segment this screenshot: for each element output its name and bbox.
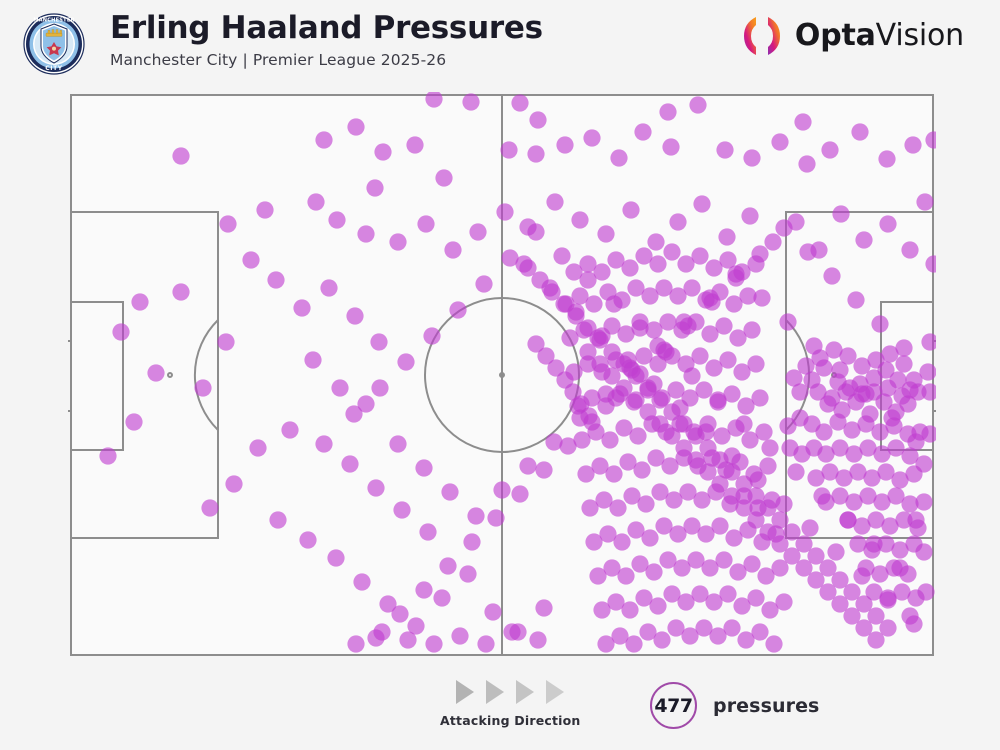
left-goal xyxy=(68,341,71,411)
pressure-dot xyxy=(747,255,764,272)
pressure-dot xyxy=(406,136,423,153)
pressure-dot xyxy=(715,551,732,568)
pressure-dot xyxy=(315,435,332,452)
pressure-dot xyxy=(771,559,788,576)
pressure-dot xyxy=(699,415,716,432)
pressure-dot xyxy=(459,565,476,582)
pressure-dot xyxy=(691,247,708,264)
pressure-dot xyxy=(389,233,406,250)
pressure-dot xyxy=(477,635,494,652)
pressure-dot xyxy=(659,551,676,568)
pressure-dot xyxy=(267,271,284,288)
pressure-dot xyxy=(907,511,924,528)
opta-logo-icon xyxy=(740,14,784,58)
pressure-dot xyxy=(707,483,724,500)
manchester-city-crest-icon: MANCHESTER CITY xyxy=(22,12,86,76)
pressure-dot xyxy=(615,419,632,436)
pressure-dot xyxy=(916,193,933,210)
pressure-dot xyxy=(895,355,912,372)
pressure-dot xyxy=(172,283,189,300)
pressure-dot xyxy=(307,193,324,210)
pressure-dot xyxy=(315,131,332,148)
pressure-dot xyxy=(715,317,732,334)
opta-name-bold: Opta xyxy=(795,18,876,53)
pressure-dot xyxy=(125,413,142,430)
pressure-dot xyxy=(320,279,337,296)
pressure-dot xyxy=(467,507,484,524)
pressure-dot xyxy=(719,251,736,268)
pressure-dot xyxy=(599,283,616,300)
pressure-count-label: pressures xyxy=(713,695,819,717)
crest-bottom-text: CITY xyxy=(45,65,63,72)
opta-name-light: Vision xyxy=(876,18,964,53)
pressure-dot xyxy=(589,567,606,584)
pressure-dot xyxy=(821,141,838,158)
pressure-dot xyxy=(655,517,672,534)
pressure-dot xyxy=(718,228,735,245)
pressure-dot xyxy=(695,381,712,398)
pressure-dot xyxy=(597,635,614,652)
pressure-dot xyxy=(415,459,432,476)
pressure-dot xyxy=(462,93,479,110)
pressure-dot xyxy=(417,215,434,232)
pressure-dot xyxy=(663,243,680,260)
pressure-dot xyxy=(415,581,432,598)
pressure-dot xyxy=(327,549,344,566)
pressure-dot xyxy=(827,543,844,560)
pressure-dot xyxy=(878,150,895,167)
pressure-dot xyxy=(663,585,680,602)
pressure-dot xyxy=(839,511,856,528)
pressure-dot xyxy=(225,475,242,492)
pressure-dot xyxy=(366,179,383,196)
pressure-dot xyxy=(519,457,536,474)
pressure-dot xyxy=(741,207,758,224)
pressure-dot xyxy=(623,487,640,504)
pressure-dot xyxy=(557,295,574,312)
pressure-dot xyxy=(639,381,656,398)
pressure-dot xyxy=(759,457,776,474)
pressure-dot xyxy=(425,635,442,652)
pressure-dot xyxy=(331,379,348,396)
pressure-dot xyxy=(662,138,679,155)
pressure-dot xyxy=(217,333,234,350)
pressure-dot xyxy=(593,601,610,618)
pressure-count-badge: 477 xyxy=(650,682,697,729)
pressure-dot xyxy=(893,387,910,404)
pressure-dot xyxy=(304,351,321,368)
pressure-dot xyxy=(293,299,310,316)
pressure-dot xyxy=(907,589,924,606)
pressure-dot xyxy=(585,533,602,550)
pressure-dot xyxy=(667,619,684,636)
pressure-dot xyxy=(801,519,818,536)
triangle-right-icon xyxy=(456,680,474,704)
pressure-dot xyxy=(131,293,148,310)
pressure-dot xyxy=(798,155,815,172)
pressure-dot xyxy=(764,233,781,250)
pressure-dot xyxy=(683,279,700,296)
pressure-dot xyxy=(201,499,218,516)
pressure-dot xyxy=(716,141,733,158)
pressure-dot xyxy=(172,147,189,164)
pressure-dot xyxy=(484,603,501,620)
pressure-dot xyxy=(847,291,864,308)
pressure-dot xyxy=(687,313,704,330)
pressure-dot xyxy=(373,623,390,640)
pressure-dot xyxy=(496,203,513,220)
page-title: Erling Haaland Pressures xyxy=(110,10,543,46)
pressure-dot xyxy=(607,251,624,268)
pressure-dot xyxy=(719,351,736,368)
pressure-dot xyxy=(631,555,648,572)
pressure-dot xyxy=(423,327,440,344)
pressure-dot xyxy=(565,263,582,280)
pressure-dot xyxy=(711,517,728,534)
pressure-dot xyxy=(597,225,614,242)
pressure-dot xyxy=(419,523,436,540)
pressure-dot xyxy=(529,111,546,128)
pressure-dot xyxy=(569,397,586,414)
pressure-dot xyxy=(901,607,918,624)
pressure-dot xyxy=(500,141,517,158)
pressure-dot xyxy=(631,313,648,330)
pressure-dot xyxy=(519,259,536,276)
pressure-dot xyxy=(341,455,358,472)
pressure-dot xyxy=(501,249,518,266)
pressure-dot xyxy=(487,509,504,526)
pressure-dot xyxy=(711,283,728,300)
pressure-dot xyxy=(328,211,345,228)
pressure-dot xyxy=(765,635,782,652)
triangle-right-icon xyxy=(516,680,534,704)
pressure-dot xyxy=(441,483,458,500)
pressure-dot xyxy=(639,623,656,640)
triangle-right-icon xyxy=(546,680,564,704)
pressure-dot xyxy=(817,493,834,510)
pressure-dot xyxy=(743,149,760,166)
pressure-dot xyxy=(619,453,636,470)
pressure-dot xyxy=(739,521,756,538)
pressure-dot xyxy=(799,243,816,260)
pressure-dot xyxy=(194,379,211,396)
pressure-dot xyxy=(659,103,676,120)
pressure-dot xyxy=(371,379,388,396)
pressure-dot xyxy=(767,525,784,542)
pressure-dot xyxy=(357,225,374,242)
pressure-dot xyxy=(751,623,768,640)
pressure-dot xyxy=(691,347,708,364)
pressure-dot xyxy=(529,631,546,648)
pressure-dot xyxy=(731,453,748,470)
pressure-dot xyxy=(634,123,651,140)
pressure-dot xyxy=(374,143,391,160)
pressure-dot xyxy=(693,195,710,212)
pressure-dot xyxy=(643,415,660,432)
pressure-dot xyxy=(904,136,921,153)
pressure-dot xyxy=(647,233,664,250)
pressure-dot xyxy=(779,313,796,330)
pressure-dot xyxy=(469,223,486,240)
pressure-dot xyxy=(651,483,668,500)
pressure-dot xyxy=(269,511,286,528)
pressure-dot xyxy=(493,481,510,498)
pressure-dot xyxy=(635,347,652,364)
pressure-dot xyxy=(581,499,598,516)
pressure-dot xyxy=(779,417,796,434)
pressure-dot xyxy=(573,431,590,448)
pressure-count-legend: 477 pressures xyxy=(650,682,819,729)
pressure-count-value: 477 xyxy=(654,695,692,717)
pressure-dot xyxy=(703,449,720,466)
pressure-dot xyxy=(353,573,370,590)
chart-legend: Attacking Direction 477 pressures xyxy=(0,668,1000,750)
pressure-dot xyxy=(475,275,492,292)
pressure-dot xyxy=(399,631,416,648)
pressure-dot xyxy=(781,439,798,456)
pressure-dot xyxy=(899,565,916,582)
pressure-dot xyxy=(345,405,362,422)
pressure-dot xyxy=(871,315,888,332)
pressure-dot xyxy=(915,455,932,472)
pressure-dot xyxy=(635,589,652,606)
pressure-dot xyxy=(347,635,364,652)
pressure-dot xyxy=(603,317,620,334)
pressure-dot xyxy=(857,559,874,576)
page-header: MANCHESTER CITY Erling Haaland Pressures… xyxy=(0,0,1000,88)
pressure-dot xyxy=(435,169,452,186)
pressure-dot xyxy=(915,493,932,510)
pressure-dot xyxy=(743,555,760,572)
pressure-dot xyxy=(739,287,756,304)
pressure-dot xyxy=(647,449,664,466)
pressure-dot xyxy=(787,463,804,480)
pressure-dot xyxy=(915,543,932,560)
pressure-dot xyxy=(535,599,552,616)
pressure-dot xyxy=(449,301,466,318)
pressure-dot xyxy=(794,113,811,130)
pressure-dot xyxy=(511,94,528,111)
pressure-dot xyxy=(463,533,480,550)
pressure-dot xyxy=(565,363,582,380)
pressure-dot xyxy=(611,385,628,402)
pressure-dot xyxy=(727,419,744,436)
pressure-dot xyxy=(397,353,414,370)
pressure-dot xyxy=(256,201,273,218)
pressure-dot xyxy=(610,149,627,166)
pressure-dot xyxy=(607,351,624,368)
pressure-dot xyxy=(747,589,764,606)
pressure-dot xyxy=(511,485,528,502)
pressure-dot xyxy=(242,251,259,268)
pressure-map-page: MANCHESTER CITY Erling Haaland Pressures… xyxy=(0,0,1000,750)
pressure-dot xyxy=(571,211,588,228)
pressure-dot xyxy=(346,307,363,324)
pressure-dot xyxy=(751,389,768,406)
pressure-dot xyxy=(747,355,764,372)
pressure-dot xyxy=(249,439,266,456)
opta-vision-logo: OptaVision xyxy=(740,14,964,58)
pressure-dot xyxy=(347,118,364,135)
pressure-dot xyxy=(444,241,461,258)
opta-wordmark: OptaVision xyxy=(795,19,964,53)
pressure-dot xyxy=(622,201,639,218)
pressure-dot xyxy=(627,279,644,296)
pressure-scatter-chart xyxy=(68,92,936,658)
pressure-dot xyxy=(391,605,408,622)
pressure-dot xyxy=(743,321,760,338)
pressure-dot xyxy=(719,585,736,602)
pressure-dot xyxy=(851,123,868,140)
pressure-dot xyxy=(546,193,563,210)
pressure-dot xyxy=(832,205,849,222)
pressure-dot xyxy=(389,435,406,452)
pressure-dot xyxy=(865,583,882,600)
crest-top-text: MANCHESTER xyxy=(33,18,74,24)
pressure-dot xyxy=(807,469,824,486)
pressure-dot xyxy=(451,627,468,644)
pressure-dot xyxy=(635,247,652,264)
pressure-dot xyxy=(439,557,456,574)
pitch-container xyxy=(68,92,936,658)
pressure-dot xyxy=(723,619,740,636)
pressure-dot xyxy=(723,385,740,402)
pressure-dot xyxy=(735,487,752,504)
pressure-dot xyxy=(785,369,802,386)
pressure-dot xyxy=(627,521,644,538)
pressure-dot xyxy=(853,357,870,374)
attacking-direction-label: Attacking Direction xyxy=(440,713,581,728)
pressure-dot xyxy=(112,323,129,340)
pressure-dot xyxy=(755,423,772,440)
pressure-dot xyxy=(855,231,872,248)
pressure-dot xyxy=(433,589,450,606)
pressure-dot xyxy=(535,461,552,478)
pressure-dot xyxy=(367,479,384,496)
pressure-dot xyxy=(689,96,706,113)
pressure-dot xyxy=(775,593,792,610)
triangle-right-icon xyxy=(486,680,504,704)
pressure-dot xyxy=(761,439,778,456)
attacking-direction-arrows xyxy=(456,680,564,704)
pressure-dot xyxy=(556,136,573,153)
pressure-dot xyxy=(370,333,387,350)
pressure-dot xyxy=(503,623,520,640)
pressure-dot xyxy=(879,215,896,232)
pressure-dot xyxy=(299,531,316,548)
pressure-dot xyxy=(849,535,866,552)
pressure-dot xyxy=(393,501,410,518)
pressure-dot xyxy=(99,447,116,464)
pressure-dot xyxy=(901,241,918,258)
pressure-dot xyxy=(763,491,780,508)
pressure-dot xyxy=(281,421,298,438)
pressure-dot xyxy=(823,267,840,284)
pressure-dot xyxy=(561,329,578,346)
pressure-dot xyxy=(527,223,544,240)
pressure-dot xyxy=(775,219,792,236)
title-block: Erling Haaland Pressures Manchester City… xyxy=(110,10,543,71)
pressure-dot xyxy=(771,133,788,150)
attacking-direction-legend: Attacking Direction xyxy=(440,680,581,728)
pressure-dot xyxy=(527,335,544,352)
pressure-dot xyxy=(219,215,236,232)
pressure-dot xyxy=(583,129,600,146)
page-subtitle: Manchester City | Premier League 2025-26 xyxy=(110,49,543,71)
pressure-dot xyxy=(905,371,922,388)
pressure-dot xyxy=(577,465,594,482)
pressure-dot xyxy=(669,213,686,230)
pressure-dot xyxy=(147,364,164,381)
pressure-dot xyxy=(527,145,544,162)
pressure-dot xyxy=(553,247,570,264)
